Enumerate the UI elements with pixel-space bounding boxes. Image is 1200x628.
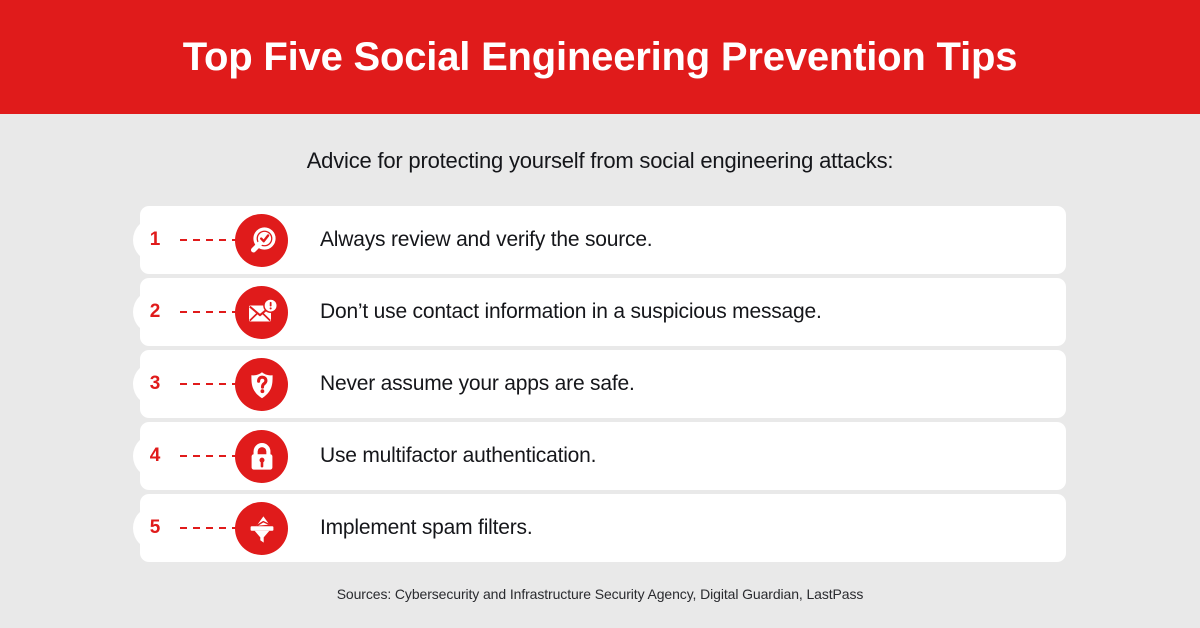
tip-label: Don’t use contact information in a suspi… xyxy=(320,278,822,346)
tip-label: Implement spam filters. xyxy=(320,494,532,562)
dashed-connector-line xyxy=(180,311,238,313)
list-item: 1 Always review and verify the source. xyxy=(0,206,1200,274)
tip-label: Never assume your apps are safe. xyxy=(320,350,635,418)
dashed-connector-line xyxy=(180,455,238,457)
spam-filter-funnel-icon xyxy=(235,502,288,555)
tip-number-badge: 5 xyxy=(133,506,177,550)
tip-label: Use multifactor authentication. xyxy=(320,422,596,490)
magnifier-check-icon xyxy=(235,214,288,267)
dashed-connector-line xyxy=(180,239,238,241)
list-item: 2 Don’t use contact information in a sus… xyxy=(0,278,1200,346)
tip-number-badge: 3 xyxy=(133,362,177,406)
tip-number-badge: 4 xyxy=(133,434,177,478)
subtitle: Advice for protecting yourself from soci… xyxy=(0,148,1200,174)
dashed-connector-line xyxy=(180,383,238,385)
shield-question-icon xyxy=(235,358,288,411)
tip-label: Always review and verify the source. xyxy=(320,206,652,274)
tips-list: 1 Always review and verify the source. 2 xyxy=(0,206,1200,566)
list-item: 5 Implement spam filters. xyxy=(0,494,1200,562)
header-band: Top Five Social Engineering Prevention T… xyxy=(0,0,1200,114)
tip-number-badge: 2 xyxy=(133,290,177,334)
tip-number-badge: 1 xyxy=(133,218,177,262)
sources-footnote: Sources: Cybersecurity and Infrastructur… xyxy=(0,586,1200,602)
envelope-alert-icon xyxy=(235,286,288,339)
padlock-icon xyxy=(235,430,288,483)
list-item: 3 Never assume your apps are safe. xyxy=(0,350,1200,418)
dashed-connector-line xyxy=(180,527,238,529)
list-item: 4 Use multifactor authentication. xyxy=(0,422,1200,490)
page-title: Top Five Social Engineering Prevention T… xyxy=(183,37,1018,77)
